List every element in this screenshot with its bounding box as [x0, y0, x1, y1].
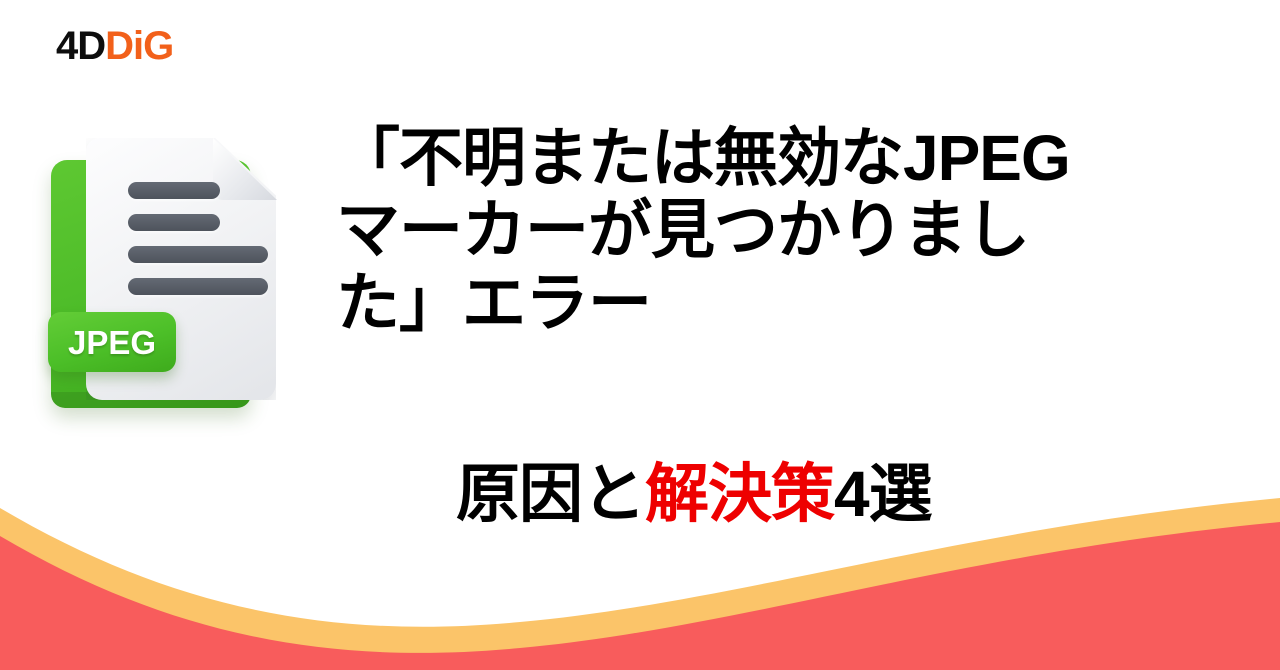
- file-icon-text-line: [128, 182, 220, 199]
- subheadline-block: 原因と解決策4選: [456, 459, 932, 529]
- subheadline-prefix: 原因と: [456, 458, 645, 530]
- headline-line-1: 「不明または無効なJPEG: [336, 122, 1216, 194]
- file-icon-text-line: [128, 246, 268, 263]
- file-format-badge: JPEG: [48, 312, 176, 372]
- headline-line-2: マーカーが見つかりまし: [336, 194, 1216, 266]
- subheadline-highlight: 解決策: [645, 458, 834, 530]
- thumbnail-canvas: 4DDiG JPEG 「不明または無効なJPEG マーカーが見つかりまし た」エ…: [0, 0, 1280, 670]
- brand-logo-dark-text: 4D: [56, 24, 105, 68]
- headline-block: 「不明または無効なJPEG マーカーが見つかりまし た」エラー: [336, 122, 1216, 339]
- brand-logo: 4DDiG: [56, 26, 173, 66]
- subheadline-suffix: 4選: [834, 458, 932, 530]
- brand-logo-accent-text: DiG: [105, 24, 173, 68]
- wave-front-shape: [0, 522, 1280, 670]
- file-format-badge-label: JPEG: [68, 326, 156, 359]
- file-icon-text-line: [128, 278, 268, 295]
- headline-line-3: た」エラー: [336, 267, 1216, 339]
- jpeg-file-icon: JPEG: [38, 132, 288, 422]
- file-icon-text-line: [128, 214, 220, 231]
